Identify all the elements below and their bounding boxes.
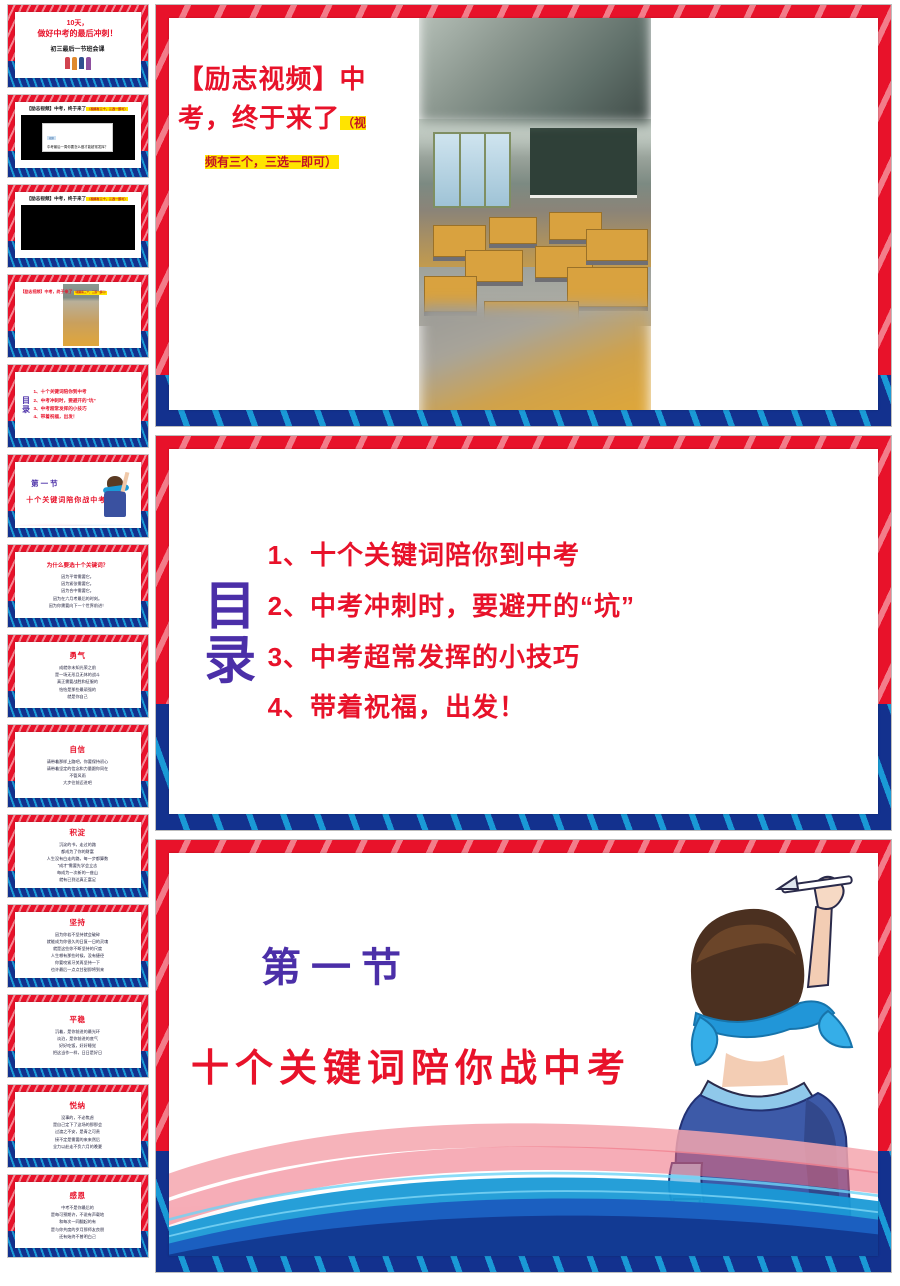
keyword-line: 因为你若不坚持就会破碎 — [55, 931, 100, 938]
keyword-line: 你要咬紧牙关再坚持一下 — [55, 959, 100, 966]
keyword-line: 恰恰是那些最顽强的 — [59, 686, 96, 693]
toc-item: 3、中考超常发挥的小技巧 — [34, 405, 139, 413]
presentation-viewer: 10天， 做好中考的最后冲刺！ 初三最后一节班会课 【励志视频】中考，终于来了（… — [0, 0, 900, 1286]
thumbnail-content: 第一节 十个关键词陪你战中考 — [17, 464, 139, 526]
thumbnail-content: 坚持 因为你若不坚持就会破碎 就能成为你很久的日复一日的灵魂 就是这些你不断坚持… — [17, 914, 139, 976]
keyword-line: 把这当作一样，日日是好日 — [53, 1049, 102, 1056]
slide-thumbnail-8[interactable]: 勇气 成就你未知光荣之前 是一场无形且无休的战斗 真正需要战胜和征服的 恰恰是那… — [7, 634, 149, 718]
video-heading: 【励志视频】中考，终于来了（视频有三个，三选一即可） — [8, 196, 148, 202]
keyword-line: 是与你共度的岁月那师友良朋 — [51, 1226, 104, 1233]
slide-3-content: 第一节 十个关键词陪你战中考 — [169, 853, 878, 1256]
keyword-heading: 积淀 — [70, 827, 86, 838]
video-heading: 【励志视频】中考，终于来了（视频有三个，三选一即可） — [8, 106, 148, 112]
main-slide-1[interactable]: 【励志视频】中考，终于来了（视频有三个，三选一即可） — [155, 4, 892, 427]
video-heading-note: （视频有三个，三选一即可） — [86, 107, 128, 111]
keyword-line: 每成为一次新的一座山 — [57, 869, 98, 876]
cover-title-line2: 做好中考的最后冲刺！ — [38, 29, 118, 39]
keyword-line: 好好吃饭，好好睡觉 — [59, 1042, 96, 1049]
thumbnail-content: 感恩 中考不是你最后的 是每可预期许，不说有声载地 和每次一同翻起的有 是与你共… — [17, 1184, 139, 1246]
slide-thumbnail-10[interactable]: 积淀 沉淀的书，走过的路 都成为了你的财富 人生没有白走的路，每一步都算数 “成… — [7, 814, 149, 898]
photo-desk — [489, 217, 537, 244]
thumbnail-content: 【励志视频】中考，终于来了 （视频有三个，三选一即可） — [17, 284, 139, 346]
slide-thumbnail-13[interactable]: 悦纳 没事的，不必焦虑 是自己定下了这场的那那会 过渡之不安，是青之可贵 接不定… — [7, 1084, 149, 1168]
toc-item: 1、十个关键词陪你到中考 — [268, 530, 868, 581]
students-illustration — [65, 57, 91, 70]
question-line: 因为平常需要它。 — [61, 573, 94, 580]
toc-item: 2、中考冲刺时，要避开的“坑” — [34, 397, 139, 405]
slide-thumbnail-14[interactable]: 感恩 中考不是你最后的 是每可预期许，不说有声载地 和每次一同翻起的有 是与你共… — [7, 1174, 149, 1258]
toc-item: 3、中考超常发挥的小技巧 — [268, 632, 868, 683]
video-caption-tag: 视频 — [47, 136, 56, 140]
keyword-heading: 坚持 — [70, 917, 86, 928]
keyword-line: 大步往前迈进吧 — [63, 779, 92, 786]
photo-blur-top — [419, 18, 651, 123]
keyword-line: 接不定是需要的来来然后 — [55, 1136, 100, 1143]
photo-desk — [567, 267, 648, 307]
keyword-line: 是自己定下了这场的那那会 — [53, 1121, 102, 1128]
keyword-line: 都成为了你的财富 — [61, 848, 94, 855]
video-placeholder[interactable] — [21, 205, 135, 250]
slide-2-content: 目录 1、十个关键词陪你到中考 2、中考冲刺时，要避开的“坑” 3、中考超常发挥… — [169, 449, 878, 814]
thumbnail-content: 目录 1、十个关键词陪你到中考 2、中考冲刺时，要避开的“坑” 3、中考超常发挥… — [17, 374, 139, 436]
keyword-heading: 勇气 — [70, 650, 86, 661]
keyword-line: “成才”需要先学会立志 — [58, 862, 98, 869]
keyword-heading: 自信 — [70, 744, 86, 755]
section-number: 第一节 — [261, 935, 411, 993]
slide-thumbnail-6[interactable]: 第一节 十个关键词陪你战中考 — [7, 454, 149, 538]
slide-thumbnail-3[interactable]: 【励志视频】中考，终于来了（视频有三个，三选一即可） — [7, 184, 149, 268]
slide-thumbnail-11[interactable]: 坚持 因为你若不坚持就会破碎 就能成为你很久的日复一日的灵魂 就是这些你不断坚持… — [7, 904, 149, 988]
keyword-heading: 平稳 — [70, 1014, 86, 1025]
slide-thumbnail-7[interactable]: 为什么要选十个关键词？ 因为平常需要它。 因为紧张需要它。 因为合中需要它。 因… — [7, 544, 149, 628]
keyword-line: 淡泊，是你前进的底气 — [57, 1035, 98, 1042]
keyword-line: 是一场无形且无休的战斗 — [55, 671, 100, 678]
question-line: 因为合中需要它。 — [61, 587, 94, 594]
video-heading-note: （视频有三个，三选一即可） — [86, 197, 128, 201]
keyword-line: 就是这些你不断坚持的尺度 — [53, 945, 102, 952]
toc-item: 1、十个关键词陪你到中考 — [34, 388, 139, 396]
keyword-heading: 感恩 — [70, 1190, 86, 1201]
keyword-line: 中考不是你最后的 — [61, 1204, 94, 1211]
toc-item: 4、带着祝福，出发！ — [34, 413, 139, 421]
cover-title-line1: 10天， — [67, 20, 89, 29]
thumbnail-content: 平稳 沉着，是你前进的最光环 淡泊，是你前进的底气 好好吃饭，好好睡觉 把这当作… — [17, 1004, 139, 1066]
video-caption-card: 视频 中考最后一周你要怎么做才能超常发挥？ — [42, 123, 113, 152]
photo-window — [433, 132, 511, 208]
question-heading: 为什么要选十个关键词？ — [47, 561, 109, 569]
photo-blackboard — [530, 128, 637, 199]
keyword-line: 就能成为你很久的日复一日的灵魂 — [47, 938, 108, 945]
bottom-swoosh — [169, 1063, 878, 1256]
video-heading-text: 【励志视频】中考，终于来了 — [21, 289, 73, 294]
keyword-line: 和每次一同翻起的有 — [59, 1218, 96, 1225]
keyword-line: 就有已到达真正富足 — [59, 876, 96, 883]
slide-1-title-text: 【励志视频】中考，终于来了 — [177, 64, 366, 133]
keyword-heading: 悦纳 — [70, 1100, 86, 1111]
toc-item: 2、中考冲刺时，要避开的“坑” — [268, 581, 868, 632]
keyword-line: 过渡之不安，是青之可贵 — [55, 1128, 100, 1135]
main-slide-pane[interactable]: 【励志视频】中考，终于来了（视频有三个，三选一即可） — [155, 0, 900, 1286]
keyword-line: 真正需要战胜和征服的 — [57, 678, 98, 685]
slide-1-content: 【励志视频】中考，终于来了（视频有三个，三选一即可） — [169, 18, 878, 410]
video-caption-text: 中考最后一周你要怎么做才能超常发挥？ — [47, 144, 108, 149]
thumbnail-content: 积淀 沉淀的书，走过的路 都成为了你的财富 人生没有白走的路，每一步都算数 “成… — [17, 824, 139, 886]
slide-thumbnail-rail[interactable]: 10天， 做好中考的最后冲刺！ 初三最后一节班会课 【励志视频】中考，终于来了（… — [0, 0, 155, 1286]
slide-thumbnail-2[interactable]: 【励志视频】中考，终于来了（视频有三个，三选一即可） 视频 中考最后一周你要怎么… — [7, 94, 149, 178]
video-heading-text: 【励志视频】中考，终于来了 — [27, 196, 87, 201]
section-number: 第一节 — [31, 478, 60, 489]
cover-subtitle: 初三最后一节班会课 — [50, 44, 104, 53]
keyword-line: 沉着，是你前进的最光环 — [55, 1028, 100, 1035]
question-line: 因为在六月考最后的时刻。 — [53, 595, 102, 602]
keyword-line: 请带着坚定的信念和力量跟你同在 — [47, 765, 108, 772]
keyword-line: 全力以赴走不负六月的晚夏 — [53, 1143, 102, 1150]
toc-items: 1、十个关键词陪你到中考 2、中考冲刺时，要避开的“坑” 3、中考超常发挥的小技… — [34, 388, 139, 422]
keyword-line: 人生哪有那些时候，没有捷径 — [51, 952, 104, 959]
keyword-line: 不管风雨 — [69, 772, 85, 779]
classroom-photo — [419, 18, 651, 410]
main-slide-3[interactable]: 第一节 十个关键词陪你战中考 — [155, 839, 892, 1273]
keyword-line: 成就你未知光荣之前 — [59, 664, 96, 671]
photo-blur-bottom — [419, 305, 651, 410]
toc-label: 目录 — [22, 396, 30, 414]
video-heading-text: 【励志视频】中考，终于来了 — [27, 106, 87, 111]
question-line: 因为紧张需要它。 — [61, 580, 94, 587]
main-slide-2[interactable]: 目录 1、十个关键词陪你到中考 2、中考冲刺时，要避开的“坑” 3、中考超常发挥… — [155, 435, 892, 831]
photo-desk — [586, 229, 648, 261]
thumbnail-content: 悦纳 没事的，不必焦虑 是自己定下了这场的那那会 过渡之不安，是青之可贵 接不定… — [17, 1094, 139, 1156]
section-title: 十个关键词陪你战中考 — [26, 495, 106, 505]
keyword-line: 也许最后一点点甘甜即将到来 — [51, 966, 104, 973]
video-heading: 【励志视频】中考，终于来了 （视频有三个，三选一即可） — [21, 289, 108, 295]
bottom-swoosh — [17, 505, 139, 526]
toc-label: 目录 — [197, 578, 252, 686]
keyword-line: 人生没有白走的路，每一步都算数 — [47, 855, 108, 862]
toc-layout: 目录 1、十个关键词陪你到中考 2、中考冲刺时，要避开的“坑” 3、中考超常发挥… — [17, 388, 139, 422]
question-line: 因为你需要向下一个世界前进！ — [49, 602, 106, 609]
slide-thumbnail-9[interactable]: 自信 请带着那样上路吧，你要保持初心 请带着坚定的信念和力量跟你同在 不管风雨 … — [7, 724, 149, 808]
video-heading-note: （视频有三个，三选一即可） — [74, 291, 108, 295]
toc-items: 1、十个关键词陪你到中考 2、中考冲刺时，要避开的“坑” 3、中考超常发挥的小技… — [268, 530, 878, 733]
slide-thumbnail-12[interactable]: 平稳 沉着，是你前进的最光环 淡泊，是你前进的底气 好好吃饭，好好睡觉 把这当作… — [7, 994, 149, 1078]
keyword-line: 是每可预期许，不说有声载地 — [51, 1211, 104, 1218]
keyword-line: 沉淀的书，走过的路 — [59, 841, 96, 848]
slide-thumbnail-1[interactable]: 10天， 做好中考的最后冲刺！ 初三最后一节班会课 — [7, 4, 149, 88]
keyword-line: 请带着那样上路吧，你要保持初心 — [47, 758, 108, 765]
slide-thumbnail-5[interactable]: 目录 1、十个关键词陪你到中考 2、中考冲刺时，要避开的“坑” 3、中考超常发挥… — [7, 364, 149, 448]
thumbnail-content: 10天， 做好中考的最后冲刺！ 初三最后一节班会课 — [17, 14, 139, 76]
thumbnail-content: 自信 请带着那样上路吧，你要保持初心 请带着坚定的信念和力量跟你同在 不管风雨 … — [17, 734, 139, 796]
thumbnail-content: 为什么要选十个关键词？ 因为平常需要它。 因为紧张需要它。 因为合中需要它。 因… — [17, 554, 139, 616]
keyword-line: 没事的，不必焦虑 — [61, 1114, 94, 1121]
video-placeholder[interactable]: 视频 中考最后一周你要怎么做才能超常发挥？ — [21, 115, 135, 160]
toc-item: 4、带着祝福，出发！ — [268, 682, 868, 733]
keyword-line: 就是你自己 — [67, 693, 87, 700]
slide-1-title: 【励志视频】中考，终于来了（视频有三个，三选一即可） — [172, 60, 372, 177]
keyword-line: 还有始终不曾明白己 — [59, 1233, 96, 1240]
thumbnail-content: 勇气 成就你未知光荣之前 是一场无形且无休的战斗 真正需要战胜和征服的 恰恰是那… — [17, 644, 139, 706]
section-layout: 第一节 十个关键词陪你战中考 — [17, 464, 139, 526]
slide-thumbnail-4[interactable]: 【励志视频】中考，终于来了 （视频有三个，三选一即可） — [7, 274, 149, 358]
